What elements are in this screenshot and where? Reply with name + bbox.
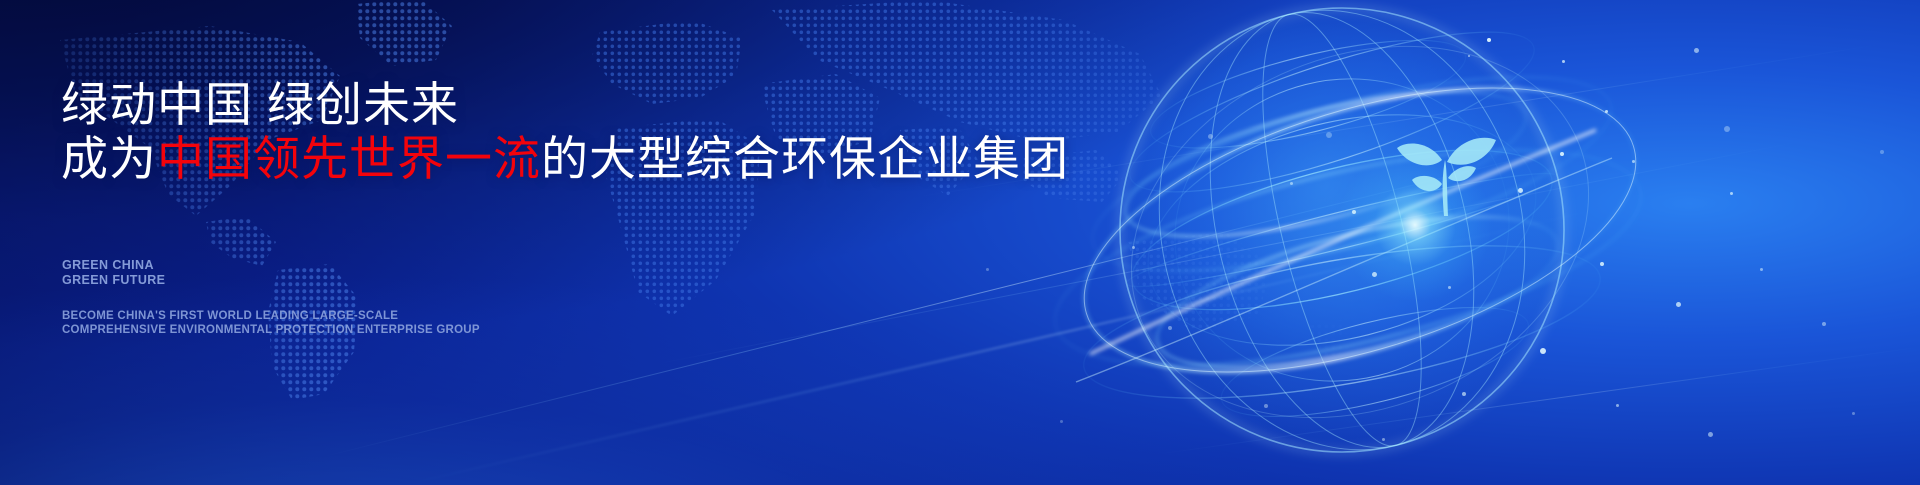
headline-line-2: 成为中国领先世界一流的大型综合环保企业集团	[61, 132, 1069, 186]
headline-suffix: 的大型综合环保企业集团	[541, 132, 1069, 185]
subtitle-line-1: BECOME CHINA'S FIRST WORLD LEADING LARGE…	[62, 309, 480, 323]
headline-line-1: 绿动中国 绿创未来	[61, 78, 1069, 132]
headline-highlight: 中国领先世界一流	[157, 132, 541, 185]
tagline-line-1: GREEN CHINA	[62, 258, 165, 273]
tagline: GREEN CHINA GREEN FUTURE	[62, 258, 165, 288]
page-title: 绿动中国 绿创未来 成为中国领先世界一流的大型综合环保企业集团	[61, 78, 1069, 186]
headline-prefix: 成为	[61, 132, 157, 185]
subtitle-line-2: COMPREHENSIVE ENVIRONMENTAL PROTECTION E…	[62, 323, 480, 337]
subtitle: BECOME CHINA'S FIRST WORLD LEADING LARGE…	[62, 309, 480, 337]
tagline-line-2: GREEN FUTURE	[62, 273, 165, 288]
hero-banner: 绿动中国 绿创未来 成为中国领先世界一流的大型综合环保企业集团 GREEN CH…	[0, 0, 1920, 485]
banner-copy: 绿动中国 绿创未来 成为中国领先世界一流的大型综合环保企业集团 GREEN CH…	[61, 0, 1061, 485]
